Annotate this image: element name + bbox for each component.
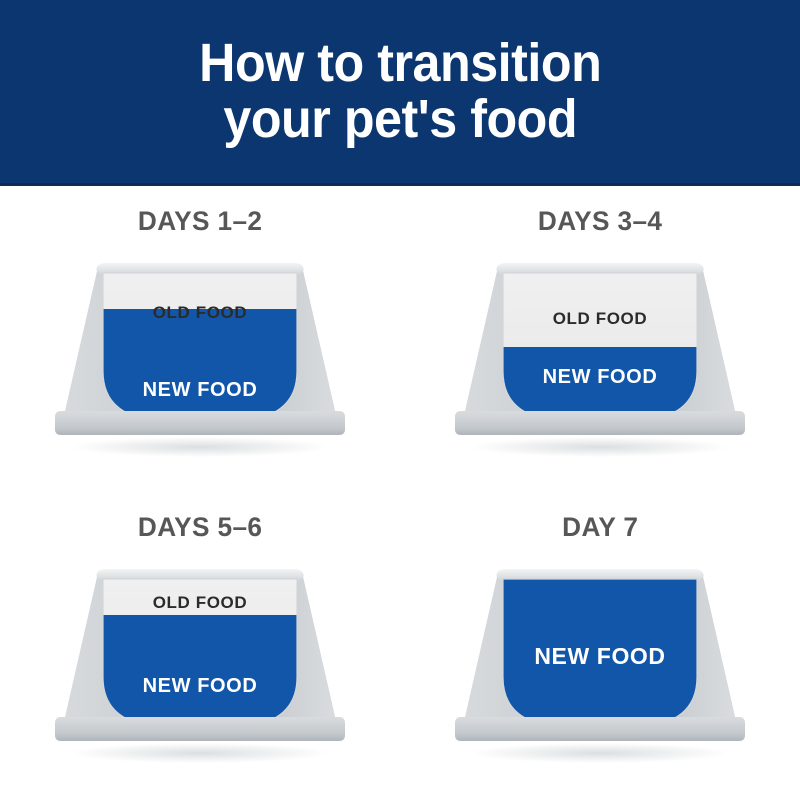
bowl-illustration	[35, 251, 365, 461]
bowl-days-3-4: OLD FOOD NEW FOOD	[435, 251, 765, 461]
bowl-day-7: NEW FOOD	[435, 557, 765, 767]
page-title: How to transition your pet's food	[162, 36, 639, 146]
transition-stages-grid: DAYS 1–2	[0, 186, 800, 797]
bowl-illustration	[435, 251, 765, 461]
bowl-illustration	[35, 557, 365, 767]
stage-days-1-2: DAYS 1–2	[0, 186, 400, 492]
stage-day-7: DAY 7	[400, 492, 800, 798]
stage-days-5-6: DAYS 5–6	[0, 492, 400, 798]
stage-label-day-7: DAY 7	[562, 512, 638, 543]
stage-label-days-5-6: DAYS 5–6	[138, 512, 262, 543]
header-banner: How to transition your pet's food	[0, 0, 800, 186]
stage-days-3-4: DAYS 3–4	[400, 186, 800, 492]
bowl-illustration	[435, 557, 765, 767]
stage-label-days-1-2: DAYS 1–2	[138, 206, 262, 237]
bowl-days-1-2: OLD FOOD NEW FOOD	[35, 251, 365, 461]
bowl-days-5-6: OLD FOOD NEW FOOD	[35, 557, 365, 767]
stage-label-days-3-4: DAYS 3–4	[538, 206, 662, 237]
